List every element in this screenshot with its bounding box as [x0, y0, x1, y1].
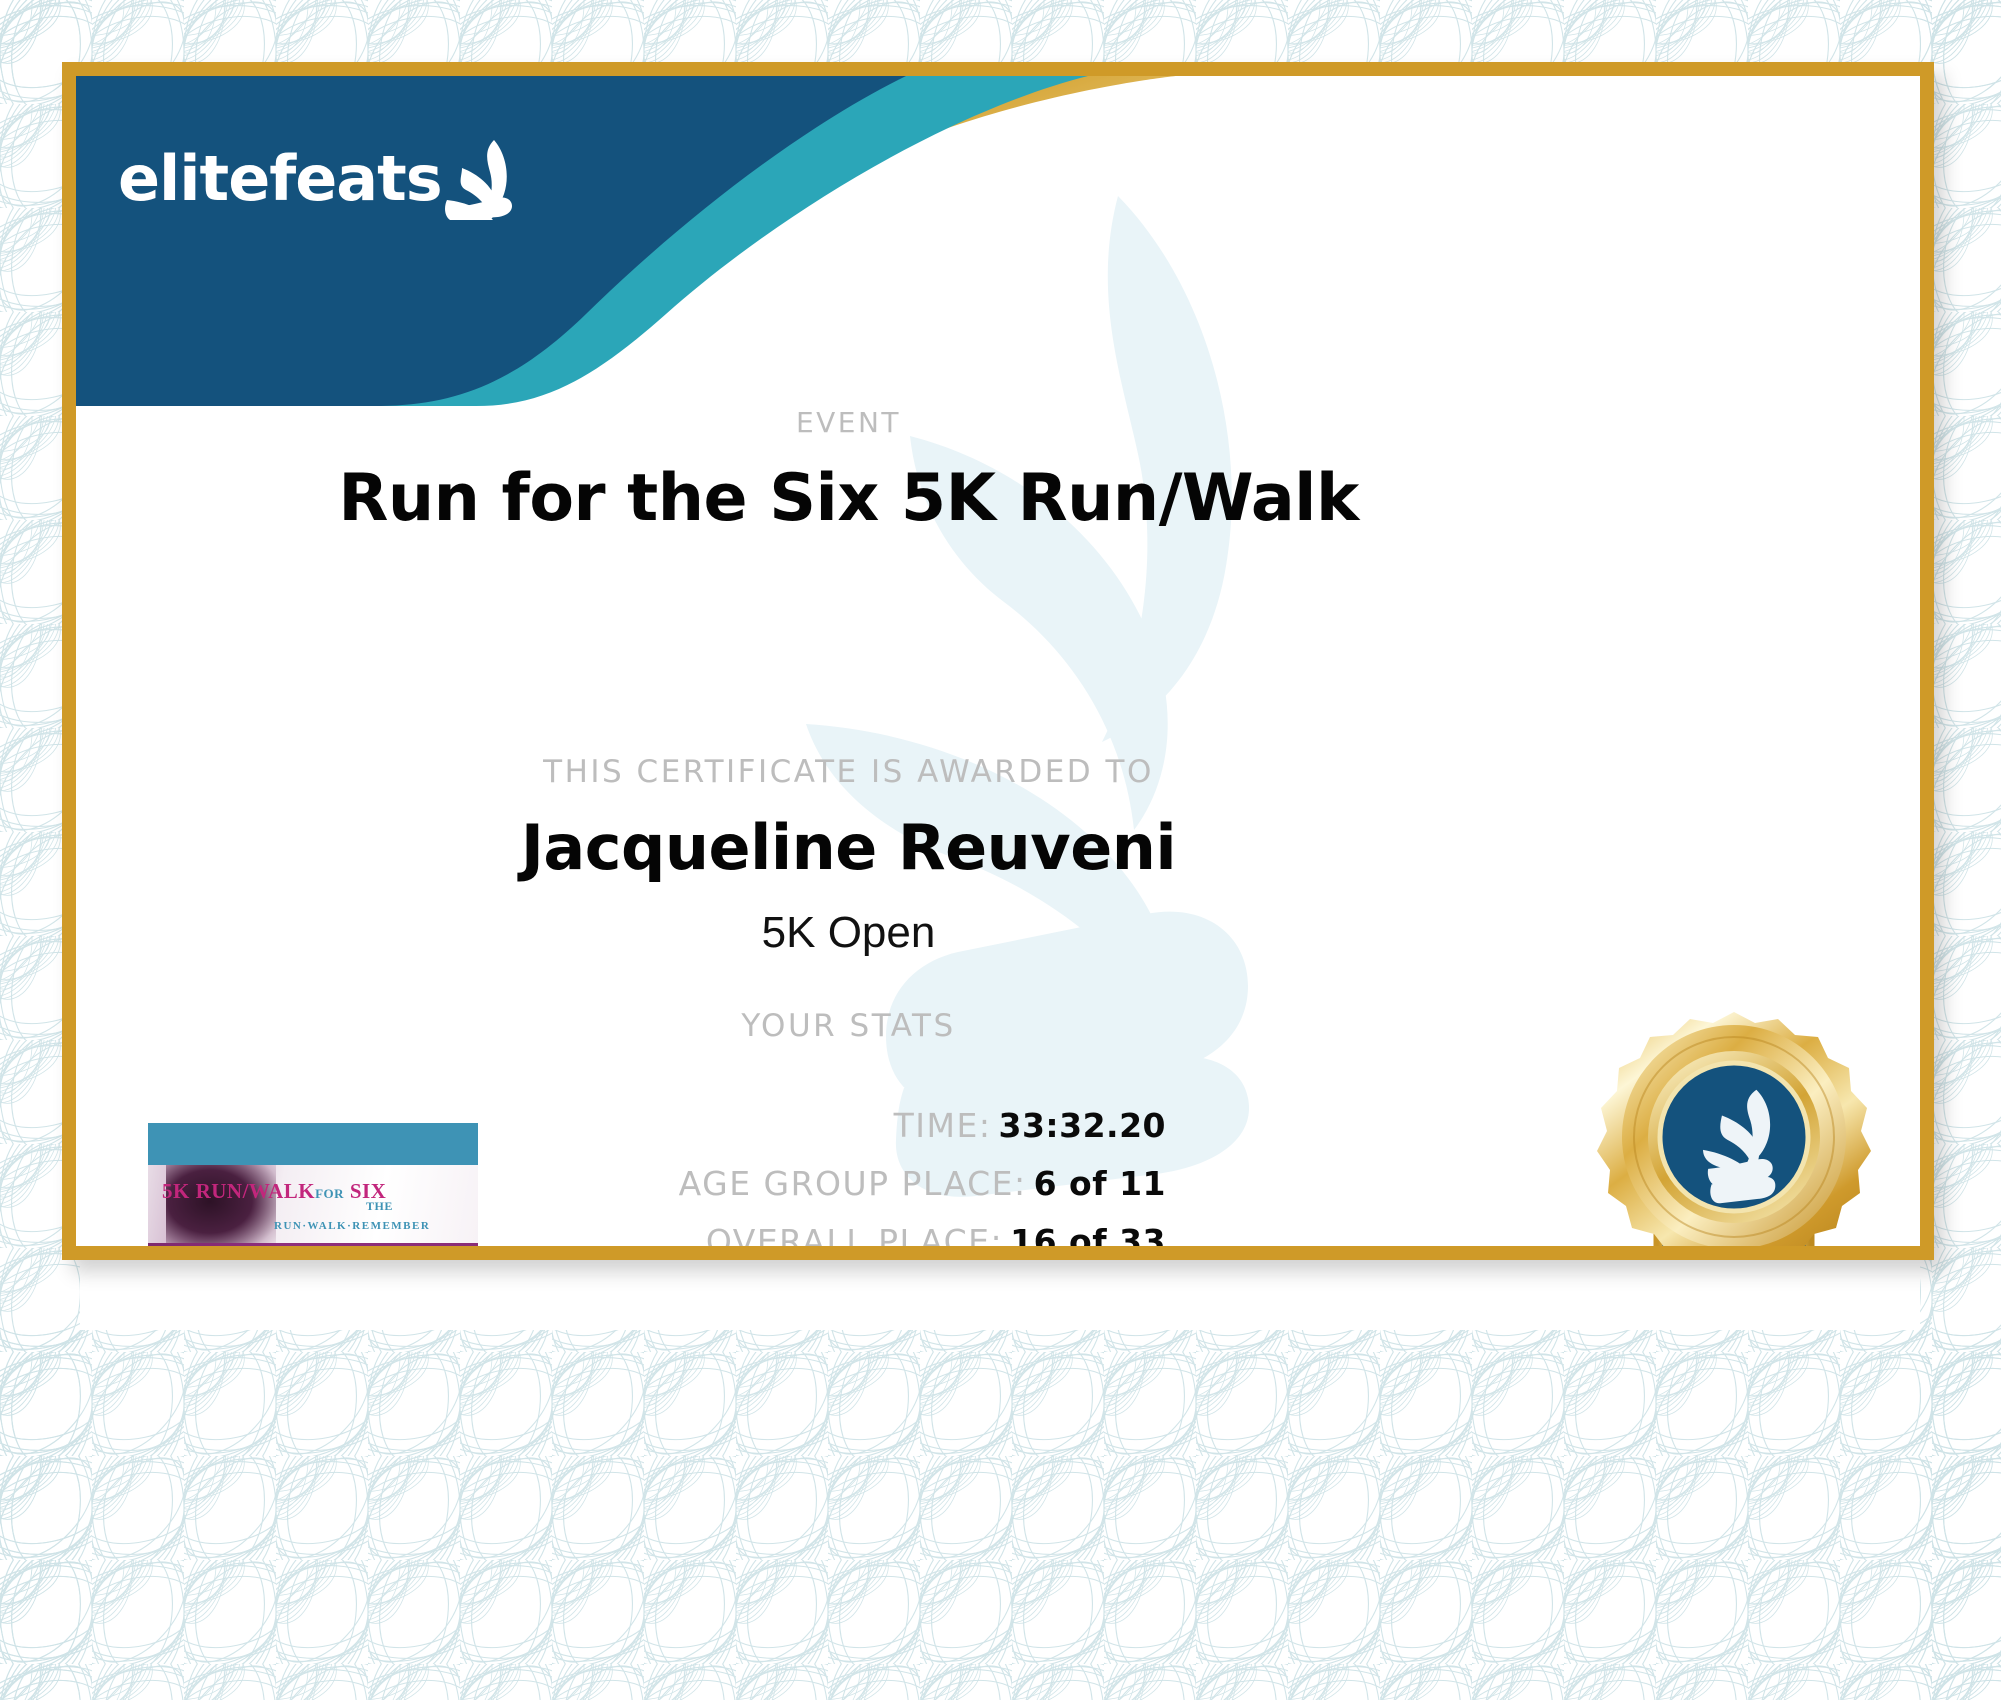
stat-value: 16 of 33: [1010, 1222, 1166, 1260]
stat-value: 6 of 11: [1034, 1164, 1166, 1203]
race-logo-ampersand: &: [206, 1256, 228, 1260]
race-logo-title-the: THE: [366, 1199, 393, 1214]
awarded-to-label: THIS CERTIFICATE IS AWARDED TO: [76, 754, 1621, 790]
race-logo-museum-name: Holocaust Museum: [192, 1247, 361, 1260]
stat-key: TIME:: [894, 1106, 992, 1145]
medal-rosette-icon: 2022: [1584, 1006, 1884, 1260]
division-label: 5K Open: [76, 908, 1621, 958]
your-stats-label: YOUR STATS: [76, 1008, 1621, 1044]
stat-key: AGE GROUP PLACE:: [679, 1164, 1027, 1203]
brand-wordmark: elitefeats: [118, 148, 442, 210]
winged-foot-icon: [444, 138, 522, 222]
race-logo-tagline: RUN·WALK·REMEMBER: [274, 1220, 430, 1232]
race-logo-top-band: [148, 1123, 478, 1165]
finisher-medal: 2022 FINISHER CERTIFICATE: [1554, 1006, 1914, 1260]
stat-value: 33:32.20: [998, 1106, 1166, 1145]
race-event-logo: 5K RUN/WALKFOR SIX THE RUN·WALK·REMEMBER…: [148, 1123, 478, 1260]
race-logo-middle-band: 5K RUN/WALKFOR SIX THE RUN·WALK·REMEMBER: [148, 1165, 478, 1243]
race-logo-bottom-band: Holocaust Museum & Center for Tolerance …: [148, 1243, 478, 1260]
event-label: EVENT: [76, 406, 1621, 439]
race-logo-title-main: 5K RUN/WALK: [162, 1179, 315, 1203]
race-logo-title: 5K RUN/WALKFOR SIX: [162, 1179, 386, 1204]
certificate-sheet: elitefeats EVENT Run for the Six 5K Run/…: [62, 62, 1934, 1260]
certificate-content: EVENT Run for the Six 5K Run/Walk THIS C…: [76, 76, 1920, 1246]
event-title: Run for the Six 5K Run/Walk: [76, 461, 1621, 536]
recipient-name: Jacqueline Reuveni: [76, 811, 1621, 884]
medal-rosette: [1597, 1012, 1871, 1260]
stat-key: OVERALL PLACE:: [706, 1222, 1003, 1260]
race-logo-photo-silhouette: [166, 1165, 276, 1243]
elitefeats-logo: elitefeats: [118, 138, 522, 210]
race-logo-title-for: FOR: [315, 1186, 344, 1201]
